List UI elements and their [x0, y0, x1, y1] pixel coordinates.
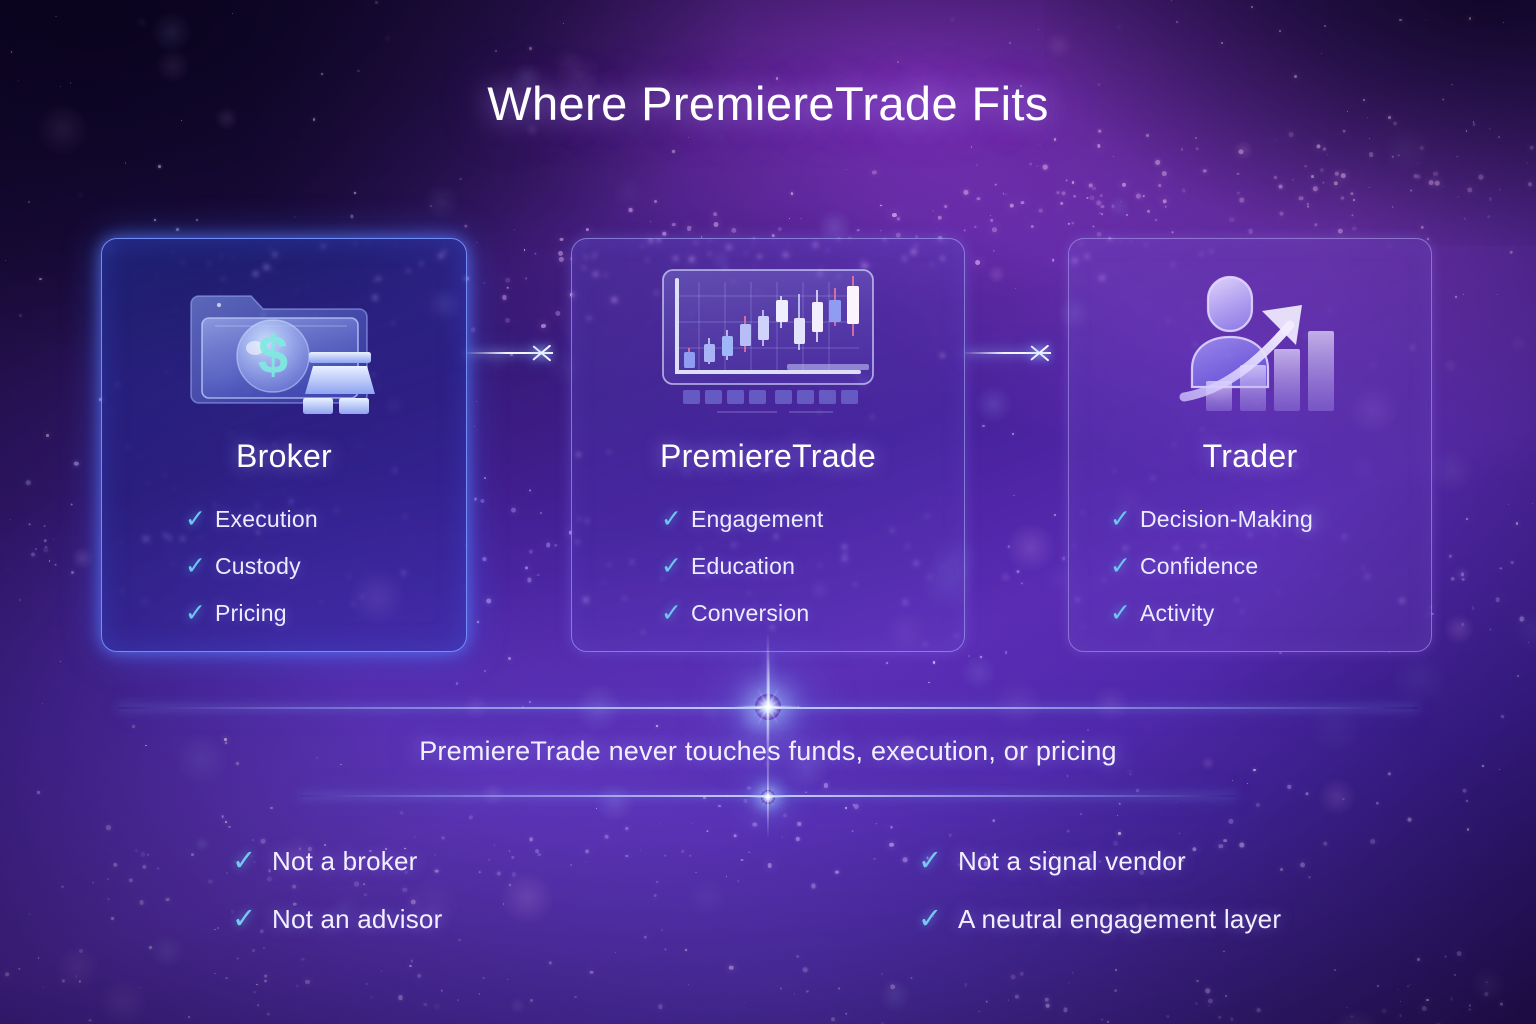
divider-upper [118, 707, 1418, 709]
check-icon: ✓ [185, 601, 215, 626]
folder-money-icon: $ [101, 256, 467, 432]
person-growth-chart-icon [1068, 256, 1432, 432]
claim-item: ✓ Not a signal vendor [918, 832, 1281, 890]
feature-label: Activity [1140, 600, 1214, 627]
check-icon: ✓ [232, 847, 272, 876]
tagline: PremiereTrade never touches funds, execu… [0, 736, 1536, 767]
feature-label: Decision-Making [1140, 506, 1313, 533]
feature-label: Custody [215, 553, 301, 580]
claims-left-column: ✓ Not a broker ✓ Not an advisor [232, 832, 442, 948]
check-icon: ✓ [918, 847, 958, 876]
page-title: Where PremiereTrade Fits [0, 76, 1536, 131]
card-premieretrade[interactable]: PremiereTrade ✓ Engagement ✓ Education ✓… [571, 238, 965, 652]
svg-text:$: $ [258, 325, 288, 385]
arrow-right-icon [467, 352, 553, 354]
check-icon: ✓ [918, 905, 958, 934]
feature-label: Execution [215, 506, 318, 533]
card-premieretrade-title: PremiereTrade [571, 438, 965, 475]
feature-label: Pricing [215, 600, 287, 627]
check-icon: ✓ [1110, 601, 1140, 626]
card-broker[interactable]: $ Broker ✓ Execution ✓ Custody [101, 238, 467, 652]
claims-right-column: ✓ Not a signal vendor ✓ A neutral engage… [918, 832, 1281, 948]
feature-item: ✓ Confidence [1110, 543, 1432, 590]
card-trader-features: ✓ Decision-Making ✓ Confidence ✓ Activit… [1068, 496, 1432, 637]
feature-item: ✓ Activity [1110, 590, 1432, 637]
check-icon: ✓ [661, 507, 691, 532]
feature-item: ✓ Custody [185, 543, 467, 590]
arrow-right-icon [965, 352, 1051, 354]
feature-label: Confidence [1140, 553, 1258, 580]
feature-item: ✓ Conversion [661, 590, 965, 637]
claim-item: ✓ A neutral engagement layer [918, 890, 1281, 948]
check-icon: ✓ [661, 554, 691, 579]
arrow-head [1031, 340, 1053, 364]
feature-item: ✓ Engagement [661, 496, 965, 543]
arrow-head [533, 340, 555, 364]
card-premieretrade-features: ✓ Engagement ✓ Education ✓ Conversion [571, 496, 965, 637]
card-trader[interactable]: Trader ✓ Decision-Making ✓ Confidence ✓ … [1068, 238, 1432, 652]
slide-root: Where PremiereTrade Fits [0, 0, 1536, 1024]
claim-label: Not a signal vendor [958, 846, 1186, 877]
check-icon: ✓ [232, 905, 272, 934]
feature-item: ✓ Execution [185, 496, 467, 543]
check-icon: ✓ [1110, 507, 1140, 532]
card-trader-title: Trader [1068, 438, 1432, 475]
claim-label: A neutral engagement layer [958, 904, 1281, 935]
vertical-connector [768, 654, 770, 708]
divider-lower [300, 795, 1236, 797]
check-icon: ✓ [185, 507, 215, 532]
feature-label: Conversion [691, 600, 809, 627]
card-broker-title: Broker [101, 438, 467, 475]
card-row: $ Broker ✓ Execution ✓ Custody [0, 238, 1536, 654]
check-icon: ✓ [1110, 554, 1140, 579]
claims-section: ✓ Not a broker ✓ Not an advisor ✓ Not a … [0, 832, 1536, 962]
card-broker-features: ✓ Execution ✓ Custody ✓ Pricing [101, 496, 467, 637]
feature-label: Engagement [691, 506, 823, 533]
feature-item: ✓ Decision-Making [1110, 496, 1432, 543]
check-icon: ✓ [661, 601, 691, 626]
claim-label: Not a broker [272, 846, 417, 877]
feature-item: ✓ Education [661, 543, 965, 590]
feature-label: Education [691, 553, 795, 580]
check-icon: ✓ [185, 554, 215, 579]
claim-item: ✓ Not an advisor [232, 890, 442, 948]
candlestick-chart-monitor-icon [571, 256, 965, 432]
claim-label: Not an advisor [272, 904, 442, 935]
claim-item: ✓ Not a broker [232, 832, 442, 890]
feature-item: ✓ Pricing [185, 590, 467, 637]
